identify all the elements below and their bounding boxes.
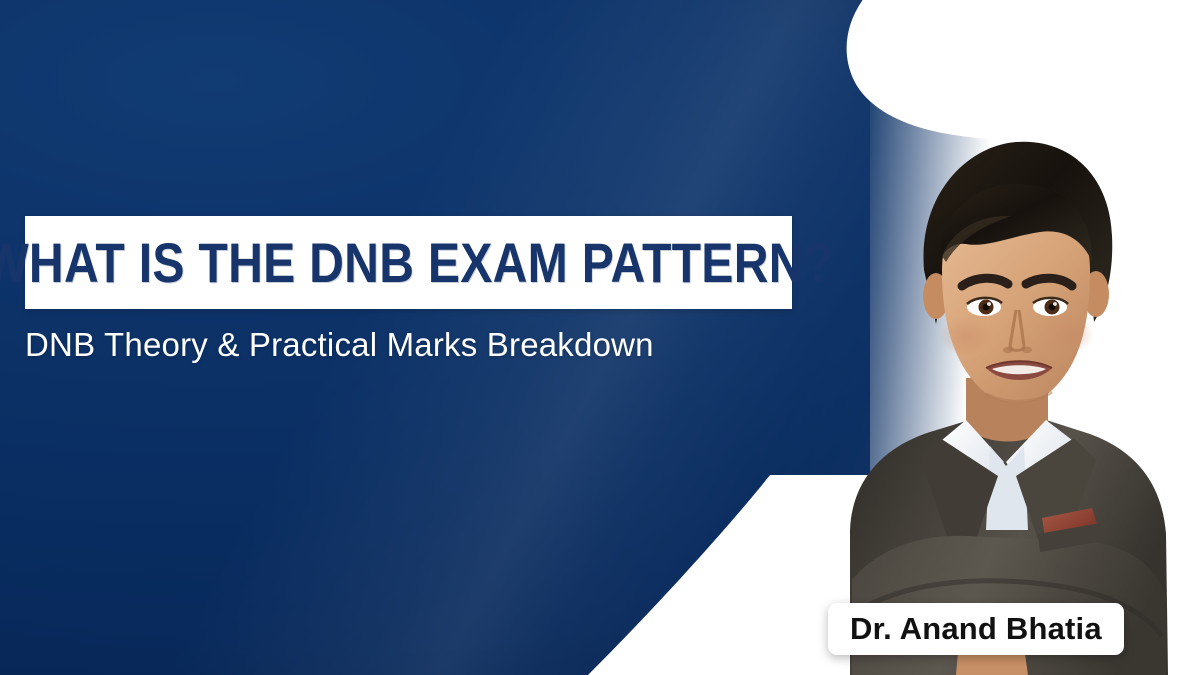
title-banner: WHAT IS THE DNB EXAM PATTERN? <box>25 216 792 309</box>
name-badge: Dr. Anand Bhatia <box>828 603 1124 655</box>
subtitle: DNB Theory & Practical Marks Breakdown <box>25 326 654 364</box>
name-badge-label: Dr. Anand Bhatia <box>850 611 1102 647</box>
page-title: WHAT IS THE DNB EXAM PATTERN? <box>0 235 834 291</box>
thumbnail-canvas: WHAT IS THE DNB EXAM PATTERN? DNB Theory… <box>0 0 1200 675</box>
